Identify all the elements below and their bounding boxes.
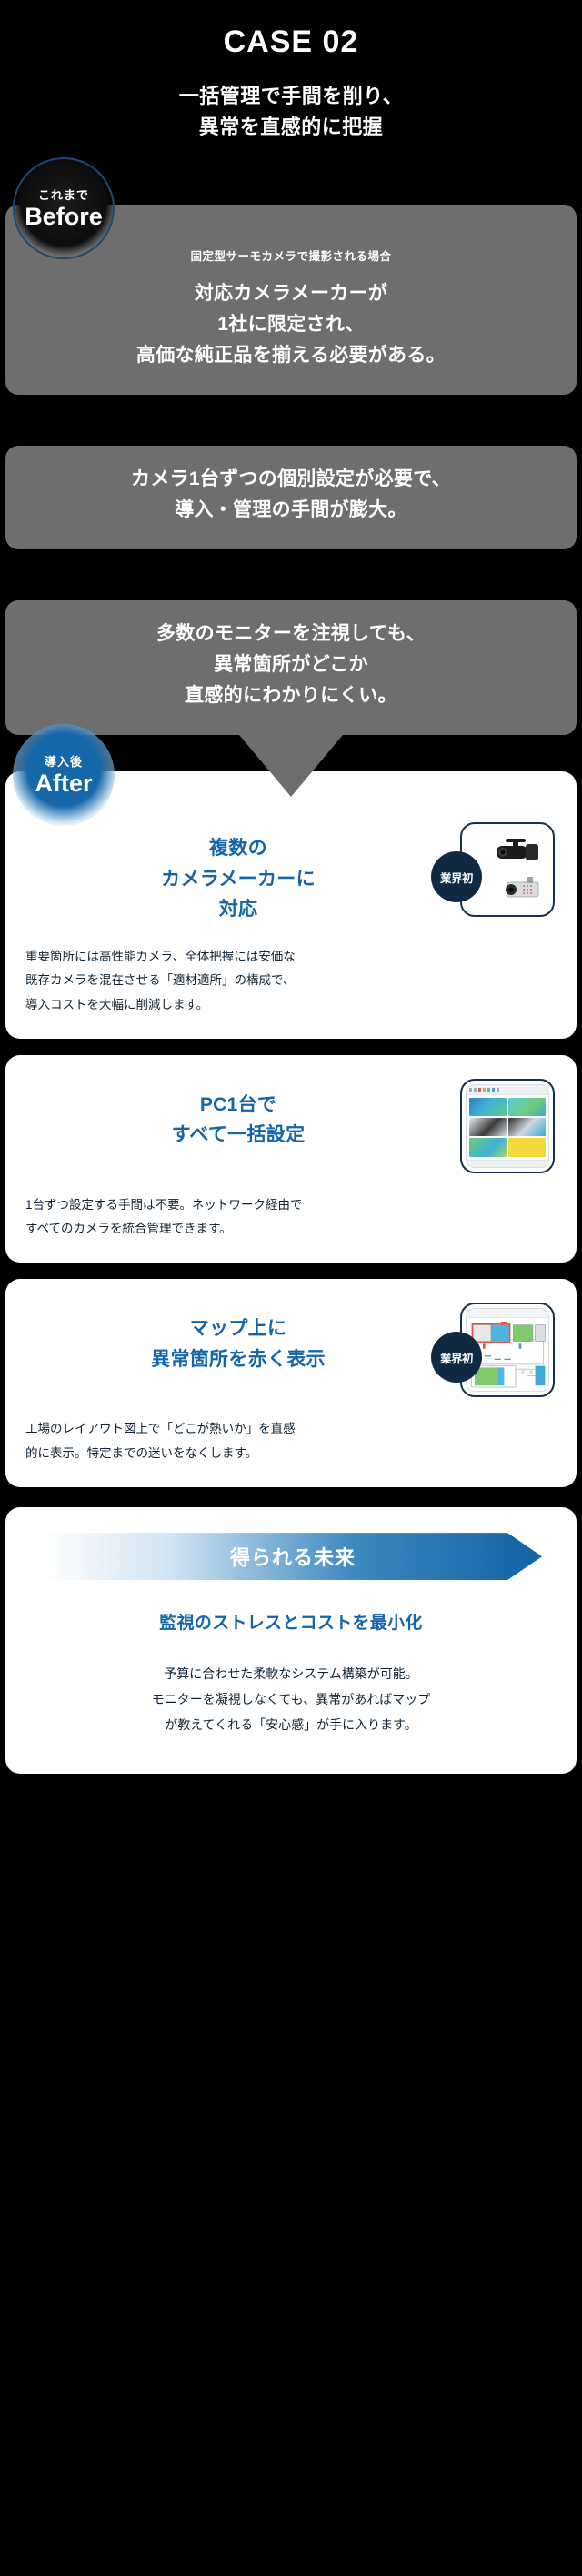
after-card-1-heading-line-1: 複数の [25,833,451,864]
after-section: 導入後 After 複数の カメラメーカーに 対応 業界初 [0,771,582,1487]
future-heading: 監視のストレスとコストを最小化 [24,1609,558,1634]
before-card-3-line-1: 多数のモニターを注視しても、 [22,619,560,649]
after-card-3-top: マップ上に 異常箇所を赤く表示 業界初 [25,1303,557,1397]
before-badge-kicker: これまで [38,186,89,203]
after-card-3-body-line-2: 的に表示。特定までの迷いをなくします。 [25,1442,557,1465]
after-card-1-body-line-1: 重要箇所には高性能カメラ、全体把握には安価な [25,945,557,969]
before-card-3-line-3: 直感的にわかりにくい。 [22,680,560,711]
bullet-camera-icon [493,839,544,866]
after-card-1-heading-line-2: カメラメーカーに [25,864,451,895]
pc-window-statusbar [467,1160,548,1167]
before-card-1-kicker: 固定型サーモカメラで撮影される場合 [22,247,560,264]
after-card-2-heading-line-1: PC1台で [25,1090,451,1121]
after-card-2-body-line-2: すべてのカメラを統合管理できます。 [25,1217,557,1241]
before-card-3-line-2: 異常箇所がどこか [22,649,560,680]
after-card-3-body-line-1: 工場のレイアウト図上で「どこが熱いか」を直感 [25,1417,557,1441]
before-card-1-line-3: 高価な純正品を揃える必要がある。 [22,340,560,371]
before-badge: これまで Before [13,157,115,259]
future-body-line-2: モニターを凝視しなくても、異常があればマップ [24,1686,558,1712]
future-body: 予算に合わせた柔軟なシステム構築が可能。 モニターを凝視しなくても、異常があれば… [24,1661,558,1737]
case-label: CASE 02 [0,16,582,61]
before-card-3-body: 多数のモニターを注視しても、 異常箇所がどこか 直感的にわかりにくい。 [22,619,560,711]
after-card-2-heading: PC1台で すべて一括設定 [25,1079,451,1151]
after-card-3-heading-line-1: マップ上に [25,1313,451,1344]
industry-first-badge: 業界初 [431,851,482,902]
after-card-2-heading-line-2: すべて一括設定 [25,1120,451,1151]
before-card-3: 多数のモニターを注視しても、 異常箇所がどこか 直感的にわかりにくい。 [5,600,577,735]
future-ribbon: 得られる未来 [44,1533,542,1580]
pc-window-mock [466,1084,549,1168]
before-card-1-line-2: 1社に限定され、 [22,309,560,340]
factory-map-thumbnail: 業界初 [460,1303,555,1397]
after-card-3-body: 工場のレイアウト図上で「どこが熱いか」を直感 的に表示。特定までの迷いをなくしま… [25,1417,557,1465]
future-body-line-1: 予算に合わせた柔軟なシステム構築が可能。 [24,1661,558,1686]
future-body-line-3: が教えてくれる「安心感」が手に入ります。 [24,1712,558,1737]
future-section: 得られる未来 監視のストレスとコストを最小化 予算に合わせた柔軟なシステム構築が… [5,1507,577,1774]
hero-section: CASE 02 一括管理で手間を削り、 異常を直感的に把握 [0,0,582,143]
security-camera-thumbnail: 業界初 [460,822,555,917]
before-card-1-body: 対応カメラメーカーが 1社に限定され、 高価な純正品を揃える必要がある。 [22,278,560,371]
after-card-2-body: 1台ずつ設定する手間は不要。ネットワーク経由で すべてのカメラを統合管理できます… [25,1193,557,1242]
before-card-1-line-1: 対応カメラメーカーが [22,278,560,309]
after-card-1-heading: 複数の カメラメーカーに 対応 [25,822,451,925]
before-badge-title: Before [25,204,103,231]
after-card-2-top: PC1台で すべて一括設定 [25,1079,557,1173]
after-card-1-body-line-3: 導入コストを大幅に削減します。 [25,993,557,1017]
after-card-1-top: 複数の カメラメーカーに 対応 業界初 [25,822,557,925]
box-camera-icon [500,877,549,902]
pc-camera-grid [467,1095,548,1160]
after-badge: 導入後 After [13,724,115,826]
before-card-2-line-2: 導入・管理の手間が膨大。 [22,495,560,526]
after-card-2-body-line-1: 1台ずつ設定する手間は不要。ネットワーク経由で [25,1193,557,1217]
after-card-1-heading-line-3: 対応 [25,894,451,925]
before-arrow-2 [0,549,582,600]
after-card-3-heading-line-2: 異常箇所を赤く表示 [25,1344,451,1375]
after-badge-title: After [35,770,92,798]
before-arrow-1 [0,395,582,446]
future-ribbon-label: 得られる未来 [230,1542,356,1571]
hero-headline: 一括管理で手間を削り、 異常を直感的に把握 [0,81,582,143]
pc-window-toolbar [467,1085,548,1095]
hero-headline-line-1: 一括管理で手間を削り、 [0,81,582,112]
map-window-toolbar [467,1309,548,1318]
before-section: これまで Before 固定型サーモカメラで撮影される場合 対応カメラメーカーが… [0,205,582,771]
after-card-1-body-line-2: 既存カメラを混在させる「適材適所」の構成で、 [25,969,557,992]
after-card-2: PC1台で すべて一括設定 [5,1055,577,1263]
pc-grid-thumbnail [460,1079,555,1173]
after-card-3-heading: マップ上に 異常箇所を赤く表示 [25,1303,451,1374]
before-card-2: カメラ1台ずつの個別設定が必要で、 導入・管理の手間が膨大。 [5,446,577,549]
after-card-3: マップ上に 異常箇所を赤く表示 業界初 [5,1279,577,1487]
after-card-1-body: 重要箇所には高性能カメラ、全体把握には安価な 既存カメラを混在させる「適材適所」… [25,945,557,1017]
bottom-spacer [0,1774,582,1790]
after-badge-kicker: 導入後 [45,752,83,770]
before-card-2-body: カメラ1台ずつの個別設定が必要で、 導入・管理の手間が膨大。 [22,464,560,526]
before-card-2-line-1: カメラ1台ずつの個別設定が必要で、 [22,464,560,495]
hero-headline-line-2: 異常を直感的に把握 [0,112,582,143]
